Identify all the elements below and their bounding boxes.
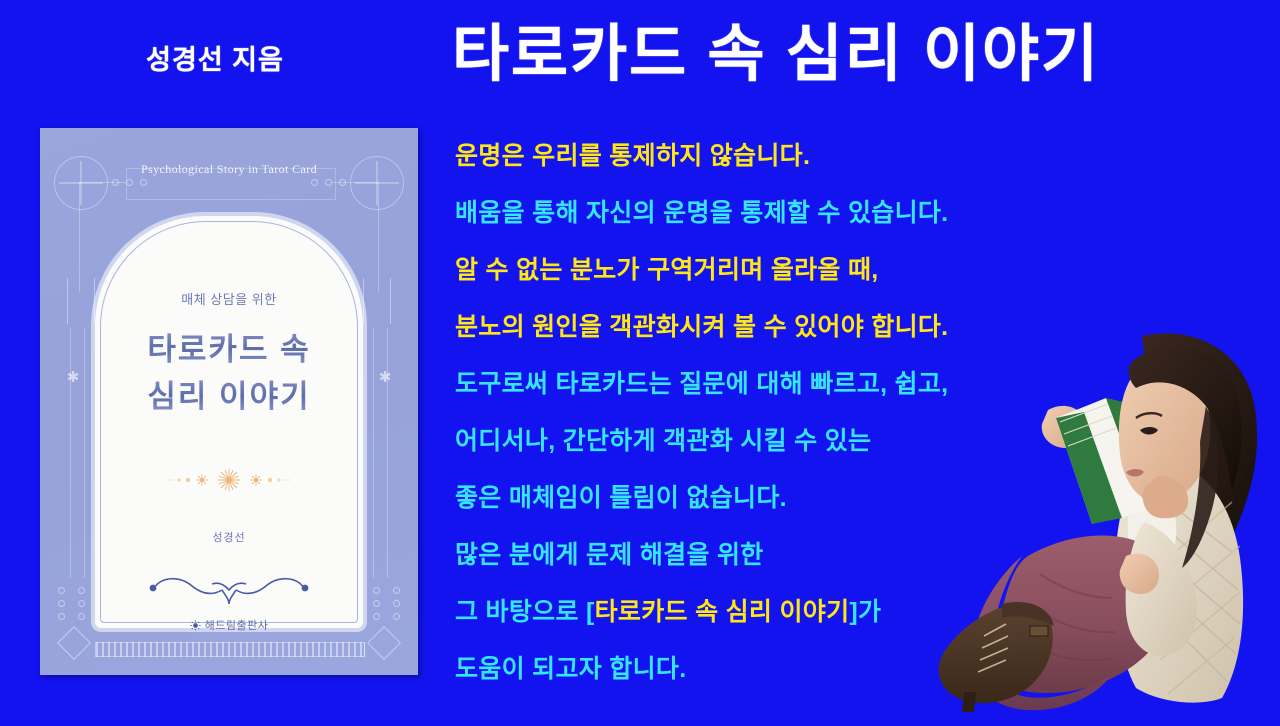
chevron-ornament <box>363 278 391 324</box>
chevron-ornament <box>67 278 95 324</box>
x-mark-ornament: ✱ <box>66 371 80 385</box>
arch-inner-border <box>100 221 358 623</box>
cover-title-line-1: 타로카드 속 <box>95 324 363 369</box>
copy-segment-highlight: 타로카드 속 심리 이야기 <box>595 598 850 626</box>
sun-logo-icon <box>190 620 201 631</box>
page-title: 타로카드 속 심리 이야기 <box>452 24 1100 86</box>
book-cover-image: ✱ ✱ Psychological Story in Tarot Card 매체… <box>40 128 418 675</box>
cover-author-name: 성경선 <box>95 529 363 545</box>
frame-line <box>79 182 127 183</box>
frame-line <box>70 328 71 578</box>
sunburst-ornament <box>154 468 304 492</box>
frame-line <box>84 328 85 578</box>
cover-tagline: Psychological Story in Tarot Card <box>40 162 418 177</box>
frame-line <box>387 328 388 578</box>
copy-line: 알 수 없는 분노가 구역거리며 올라올 때, <box>455 242 1275 299</box>
publisher-credit: 해드림출판사 <box>40 617 418 633</box>
copy-segment: 그 바탕으로 [ <box>455 598 595 626</box>
copy-segment: ]가 <box>849 598 881 626</box>
publisher-name: 해드림출판사 <box>205 617 269 633</box>
frame-line <box>378 182 379 292</box>
tick-strip-ornament <box>95 642 365 657</box>
x-mark-ornament: ✱ <box>378 371 392 385</box>
dot-column-ornament <box>373 587 380 620</box>
dot-column-ornament <box>393 587 400 620</box>
frame-line <box>79 182 80 292</box>
copy-line: 배움을 통해 자신의 운명을 통제할 수 있습니다. <box>455 185 1275 242</box>
cover-arch-panel: 매체 상담을 위한 타로카드 속 심리 이야기 <box>95 216 363 628</box>
cover-subtitle: 매체 상담을 위한 <box>95 289 363 308</box>
dot-column-ornament <box>78 587 85 620</box>
author-credit: 성경선 지음 <box>0 38 430 77</box>
copy-line: 운명은 우리를 통제하지 않습니다. <box>455 128 1275 185</box>
boot-buckle <box>1030 626 1048 636</box>
frame-line <box>373 328 374 578</box>
reader-photo <box>910 306 1280 726</box>
dot-column-ornament <box>58 587 65 620</box>
cover-title-line-2: 심리 이야기 <box>95 371 363 416</box>
poster-canvas: 성경선 지음 ✱ ✱ Psychological Story in Tarot … <box>0 0 1280 726</box>
flourish-ornament <box>144 566 314 606</box>
boot-heel <box>962 692 976 712</box>
frame-line <box>331 182 379 183</box>
